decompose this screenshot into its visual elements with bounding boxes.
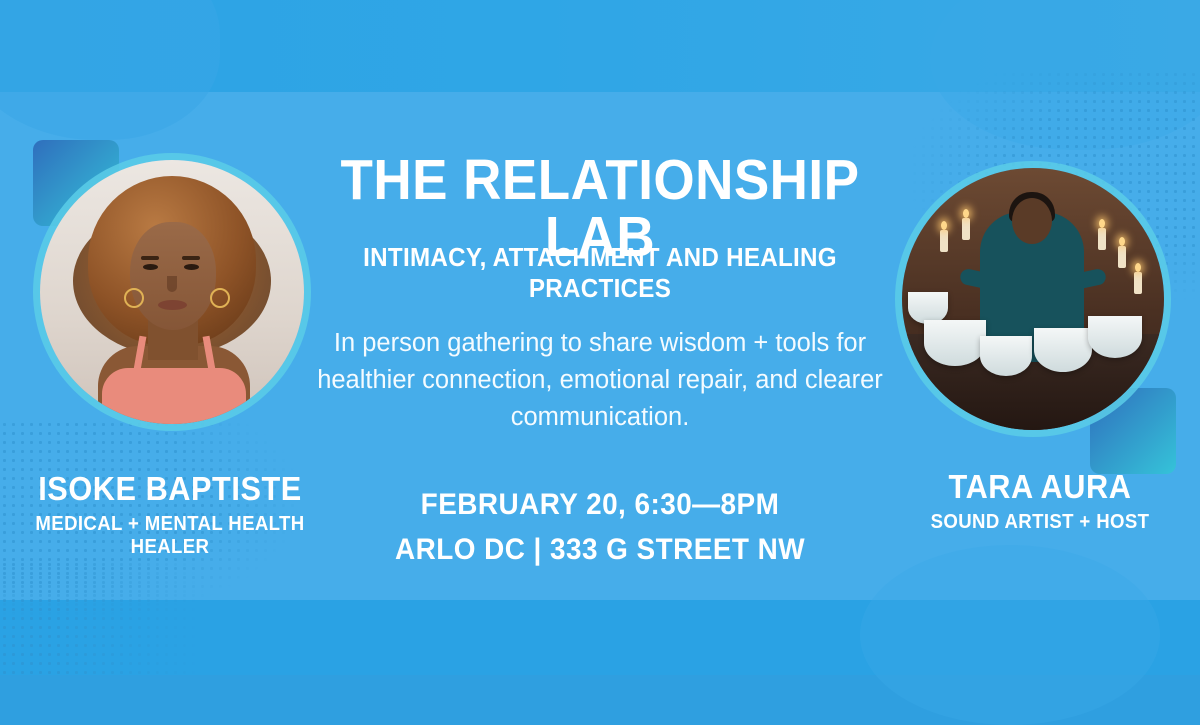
halftone-dots-bottom-left	[0, 560, 240, 680]
event-venue: ARLO DC | 333 G STREET NW	[349, 530, 851, 571]
avatar-isoke-baptiste	[40, 160, 304, 424]
event-description: In person gathering to share wisdom + to…	[290, 325, 910, 436]
event-details: FEBRUARY 20, 6:30—8PM ARLO DC | 333 G ST…	[349, 485, 851, 570]
speaker-right-name: TARA AURA	[910, 470, 1170, 505]
event-subtitle: INTIMACY, ATTACHMENT AND HEALING PRACTIC…	[312, 242, 889, 304]
event-datetime: FEBRUARY 20, 6:30—8PM	[421, 488, 780, 521]
speaker-left: ISOKE BAPTISTE MEDICAL + MENTAL HEALTH H…	[21, 472, 319, 559]
speaker-right: TARA AURA SOUND ARTIST + HOST	[910, 470, 1170, 534]
speaker-left-role: MEDICAL + MENTAL HEALTH HEALER	[21, 513, 319, 559]
avatar-tara-aura	[902, 168, 1164, 430]
event-flyer: THE RELATIONSHIP LAB INTIMACY, ATTACHMEN…	[0, 0, 1200, 675]
speaker-left-name: ISOKE BAPTISTE	[21, 472, 319, 507]
speaker-right-role: SOUND ARTIST + HOST	[910, 511, 1170, 534]
decorative-blob-bottom-right	[860, 545, 1160, 725]
